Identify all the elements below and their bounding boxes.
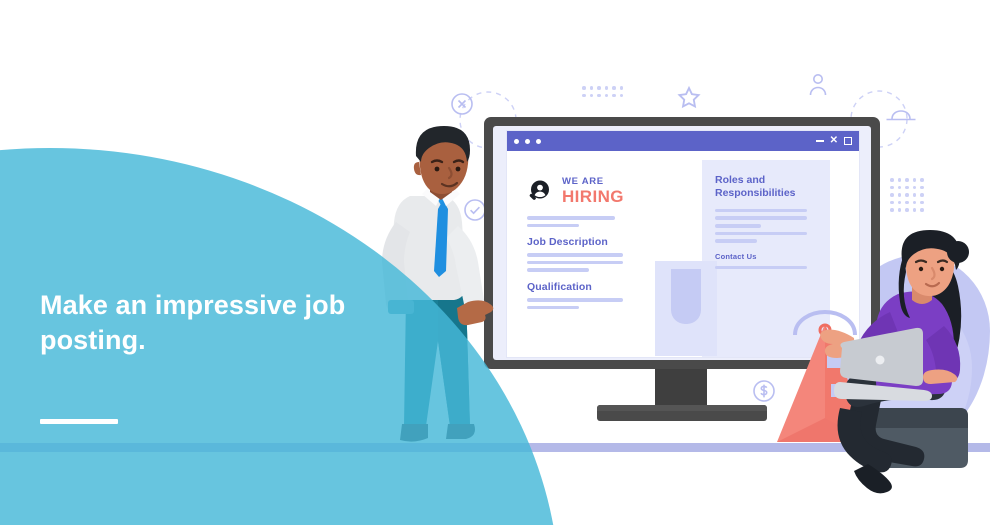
person-icon — [806, 72, 830, 98]
intro-placeholder-lines — [527, 216, 647, 227]
browser-title-bar: ✕ — [507, 131, 859, 151]
placeholder-line — [527, 224, 579, 228]
dot-grid-top — [582, 86, 623, 97]
star-icon — [675, 84, 703, 112]
dot-grid-right — [890, 178, 924, 212]
placeholder-line — [527, 253, 623, 257]
job-posting-right-column: Roles and Responsibilities Contact Us — [715, 174, 819, 273]
hero-underline-rule — [40, 419, 118, 424]
placeholder-line — [527, 261, 623, 265]
close-circle-icon — [449, 91, 475, 117]
job-description-heading: Job Description — [527, 236, 647, 248]
traffic-dot[interactable] — [536, 139, 541, 144]
placeholder-line — [715, 239, 757, 243]
roles-responsibilities-heading: Roles and Responsibilities — [715, 174, 819, 201]
search-person-icon — [527, 178, 555, 206]
placeholder-line — [715, 224, 761, 228]
minimize-icon[interactable] — [816, 140, 824, 142]
placeholder-line — [527, 306, 579, 310]
maximize-icon[interactable] — [844, 137, 852, 145]
placeholder-line — [527, 298, 623, 302]
job-description-lines — [527, 253, 647, 272]
woman-with-laptop-illustration — [820, 230, 990, 505]
placeholder-line — [715, 216, 807, 220]
traffic-dot[interactable] — [525, 139, 530, 144]
hiring-text-group: WE ARE HIRING — [562, 177, 624, 207]
graduation-cap-icon — [884, 104, 918, 128]
hiring-label: HIRING — [562, 187, 624, 207]
contact-us-label[interactable]: Contact Us — [715, 252, 819, 261]
dollar-circle-icon — [751, 378, 777, 404]
placeholder-line — [715, 232, 807, 236]
illustration-banner: ✕ — [0, 0, 990, 525]
placeholder-line — [527, 216, 615, 220]
roles-placeholder-lines — [715, 209, 819, 243]
hiring-headline-block: WE ARE HIRING — [527, 177, 647, 207]
document-fold-decoration — [671, 269, 701, 324]
placeholder-line — [715, 209, 807, 213]
page-title: Make an impressive job posting. — [40, 288, 370, 357]
qualification-lines — [527, 298, 647, 309]
monitor-base-highlight — [597, 405, 767, 411]
placeholder-line — [715, 266, 807, 270]
job-posting-left-column: WE ARE HIRING Job Description Qualificat… — [527, 177, 647, 313]
hero-text-block: Make an impressive job posting. — [40, 288, 370, 357]
close-icon[interactable]: ✕ — [830, 136, 838, 146]
placeholder-line — [527, 268, 589, 272]
we-are-label: WE ARE — [562, 177, 624, 187]
window-controls: ✕ — [816, 136, 852, 146]
qualification-heading: Qualification — [527, 281, 647, 293]
